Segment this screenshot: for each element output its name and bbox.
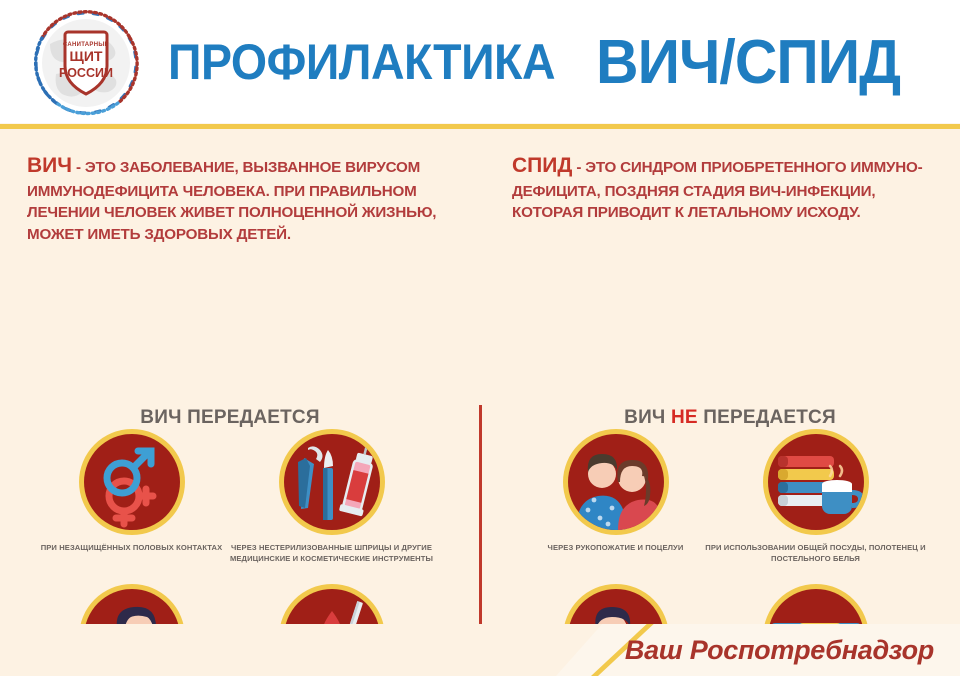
logo-line1: САНИТАРНЫЙ [63, 40, 109, 48]
gender-symbols-icon [84, 434, 180, 530]
transmission-item-instruments: ЧЕРЕЗ НЕСТЕРИЛИЗОВАННЫЕ ШПРИЦЫ И ДРУГИЕ … [214, 434, 449, 564]
hiv-definition: ВИЧ - ЭТО ЗАБОЛЕВАНИЕ, ВЫЗВАННОЕ ВИРУСОМ… [27, 151, 477, 246]
aids-definition-text: - ЭТО СИНДРОМ ПРИОБРЕТЕННОГО ИММУНО-ДЕФИ… [512, 159, 923, 221]
hiv-definition-lead: ВИЧ [27, 154, 72, 177]
right-column-heading: ВИЧ НЕ ПЕРЕДАЕТСЯ [520, 407, 940, 429]
non-transmission-item-dishes: ПРИ ИСПОЛЬЗОВАНИИ ОБЩЕЙ ПОСУДЫ, ПОЛОТЕНЕ… [698, 434, 933, 564]
dishes-towels-icon [768, 434, 864, 530]
footer-signature: Ваш Роспотребнадзор [625, 635, 934, 666]
page-title: ПРОФИЛАКТИКА ВИЧ/СПИД [168, 22, 948, 102]
page-title-part1: ПРОФИЛАКТИКА [168, 33, 555, 91]
medical-instruments-icon [284, 434, 380, 530]
right-heading-part-a: ВИЧ [624, 407, 671, 428]
logo-line2: ЩИТ [70, 48, 103, 64]
logo-line3: РОССИИ [59, 66, 113, 80]
hiv-definition-text: - ЭТО ЗАБОЛЕВАНИЕ, ВЫЗВАННОЕ ВИРУСОМ ИММ… [27, 159, 436, 243]
poster-footer: Ваш Роспотребнадзор [0, 624, 960, 676]
caption: ПРИ ИСПОЛЬЗОВАНИИ ОБЩЕЙ ПОСУДЫ, ПОЛОТЕНЕ… [698, 542, 933, 564]
infographic-poster: САНИТАРНЫЙ ЩИТ РОССИИ ПРОФИЛАКТИКА ВИЧ/С… [0, 0, 960, 676]
left-column-heading-text: ВИЧ ПЕРЕДАЕТСЯ [140, 407, 319, 428]
aids-definition: СПИД - ЭТО СИНДРОМ ПРИОБРЕТЕННОГО ИММУНО… [512, 151, 942, 224]
page-title-part2: ВИЧ/СПИД [596, 27, 900, 98]
sanitary-shield-logo: САНИТАРНЫЙ ЩИТ РОССИИ [22, 8, 150, 118]
right-heading-part-b: ПЕРЕДАЕТСЯ [698, 407, 836, 428]
main-panel: ВИЧ - ЭТО ЗАБОЛЕВАНИЕ, ВЫЗВАННОЕ ВИРУСОМ… [0, 129, 960, 624]
caption: ЧЕРЕЗ НЕСТЕРИЛИЗОВАННЫЕ ШПРИЦЫ И ДРУГИЕ … [214, 542, 449, 564]
left-column-heading: ВИЧ ПЕРЕДАЕТСЯ [20, 407, 440, 429]
aids-definition-lead: СПИД [512, 154, 572, 177]
poster-header: САНИТАРНЫЙ ЩИТ РОССИИ ПРОФИЛАКТИКА ВИЧ/С… [0, 0, 960, 123]
couple-kissing-icon [568, 434, 664, 530]
right-heading-negation: НЕ [671, 407, 698, 428]
shield-globe-logo-icon: САНИТАРНЫЙ ЩИТ РОССИИ [22, 8, 150, 118]
